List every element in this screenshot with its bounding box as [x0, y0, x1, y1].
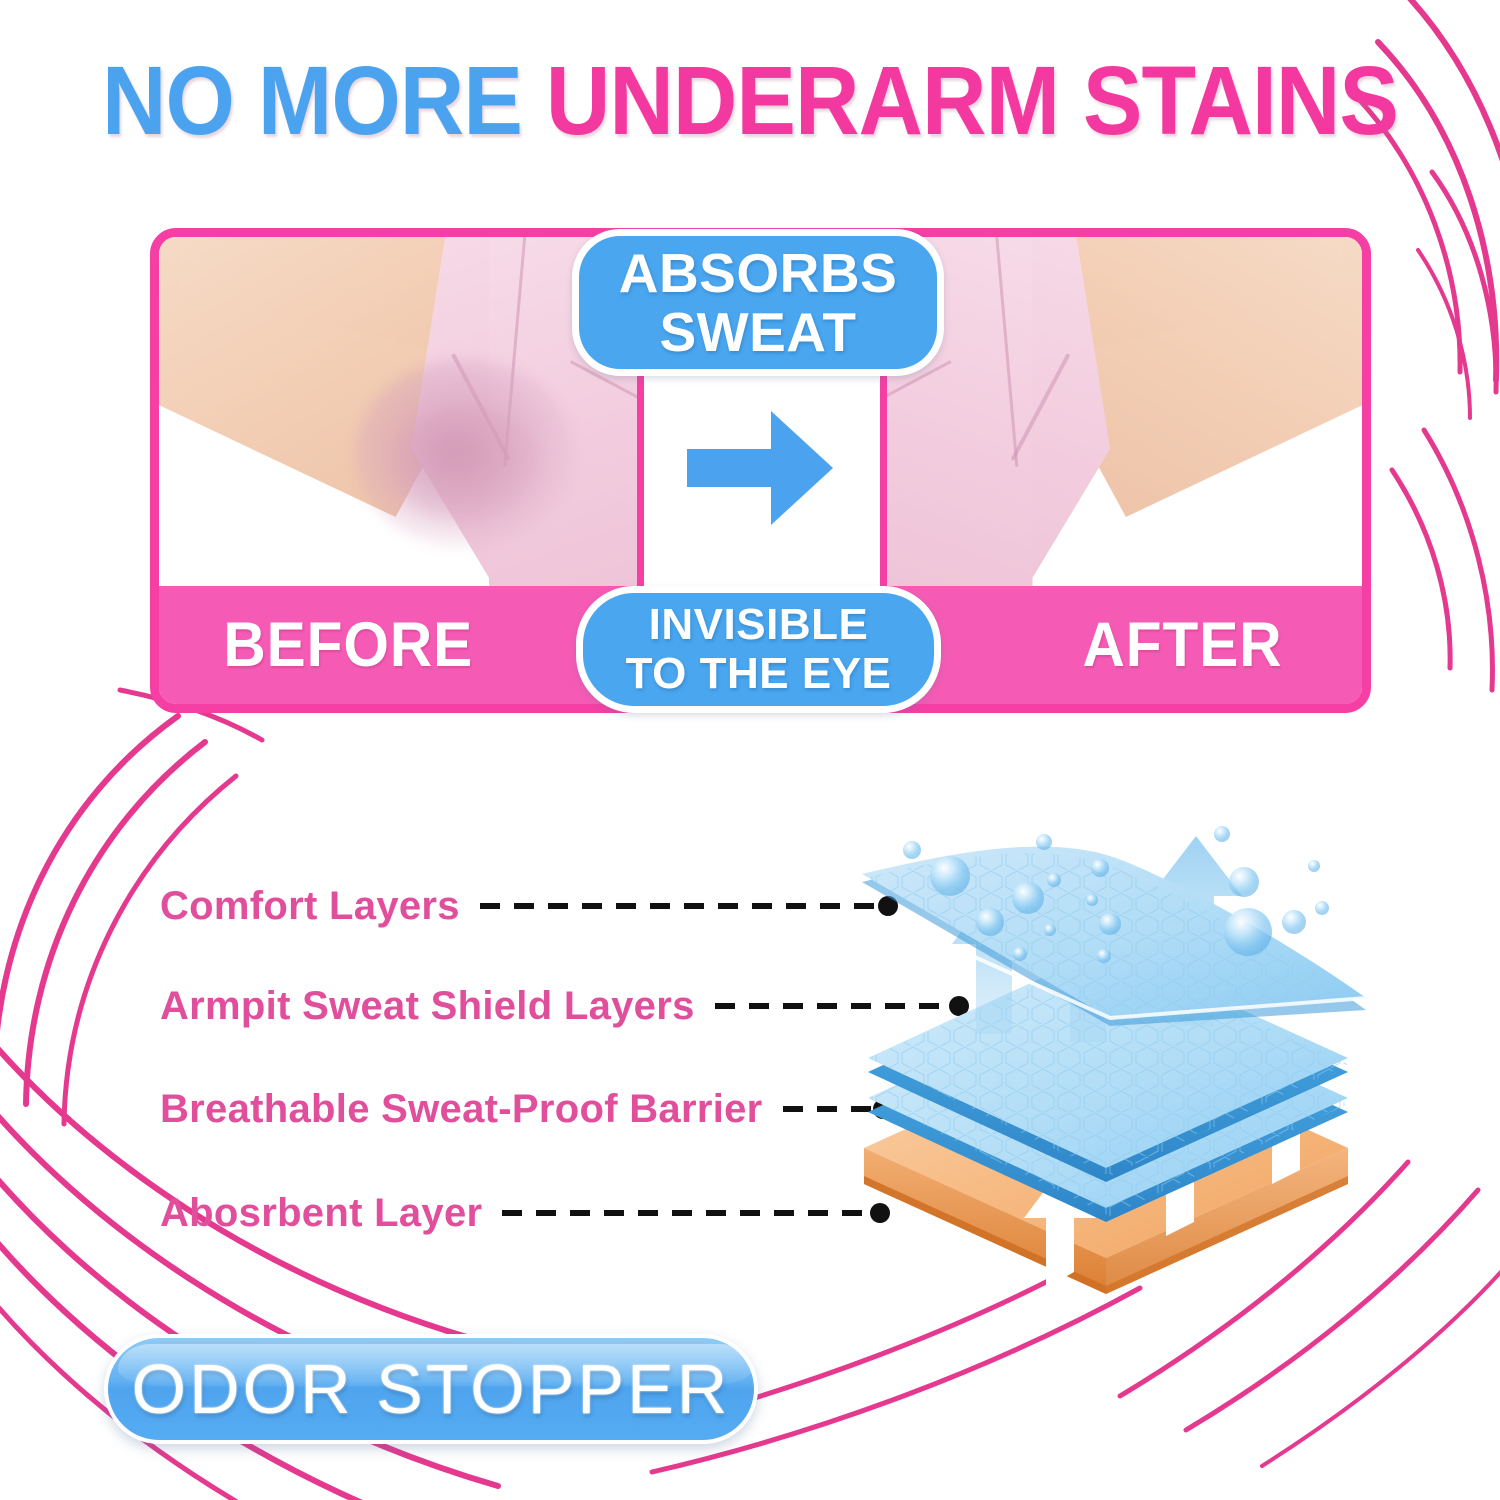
arrow-right-icon	[685, 409, 835, 527]
leader-line	[502, 1210, 884, 1217]
layer-label: Abosrbent Layer	[160, 1191, 482, 1236]
odor-stopper-label: ODOR STOPPER	[132, 1349, 731, 1429]
leader-line	[480, 903, 892, 910]
layer-label: Breathable Sweat-Proof Barrier	[160, 1087, 763, 1132]
page-title: NO MORE UNDERARM STAINS	[60, 52, 1440, 149]
callout-row: Abosrbent Layer	[160, 1187, 884, 1239]
callout-row: Comfort Layers	[160, 880, 892, 932]
invisible-to-the-eye-badge: INVISIBLE TO THE EYE	[576, 586, 941, 713]
invisible-badge-line2: TO THE EYE	[626, 649, 892, 698]
invisible-badge-line1: INVISIBLE	[649, 600, 869, 649]
layer-label: Comfort Layers	[160, 884, 460, 929]
infographic-canvas: NO MORE UNDERARM STAINS	[0, 0, 1500, 1500]
callout-row: Breathable Sweat-Proof Barrier	[160, 1083, 887, 1135]
sweat-pad-layers-illustration	[848, 826, 1368, 1331]
layer-label: Armpit Sweat Shield Layers	[160, 984, 695, 1029]
absorbs-sweat-badge: ABSORBS SWEAT	[572, 229, 944, 376]
headline-part-blue: NO MORE	[102, 46, 522, 155]
before-label: BEFORE	[223, 609, 473, 681]
callout-row: Armpit Sweat Shield Layers	[160, 980, 963, 1032]
absorbs-badge-line2: SWEAT	[659, 301, 856, 363]
absorbs-badge-line1: ABSORBS	[619, 242, 898, 304]
after-label: AFTER	[1083, 609, 1283, 681]
odor-stopper-banner: ODOR STOPPER	[104, 1334, 758, 1444]
headline-part-pink: UNDERARM STAINS	[546, 46, 1398, 155]
